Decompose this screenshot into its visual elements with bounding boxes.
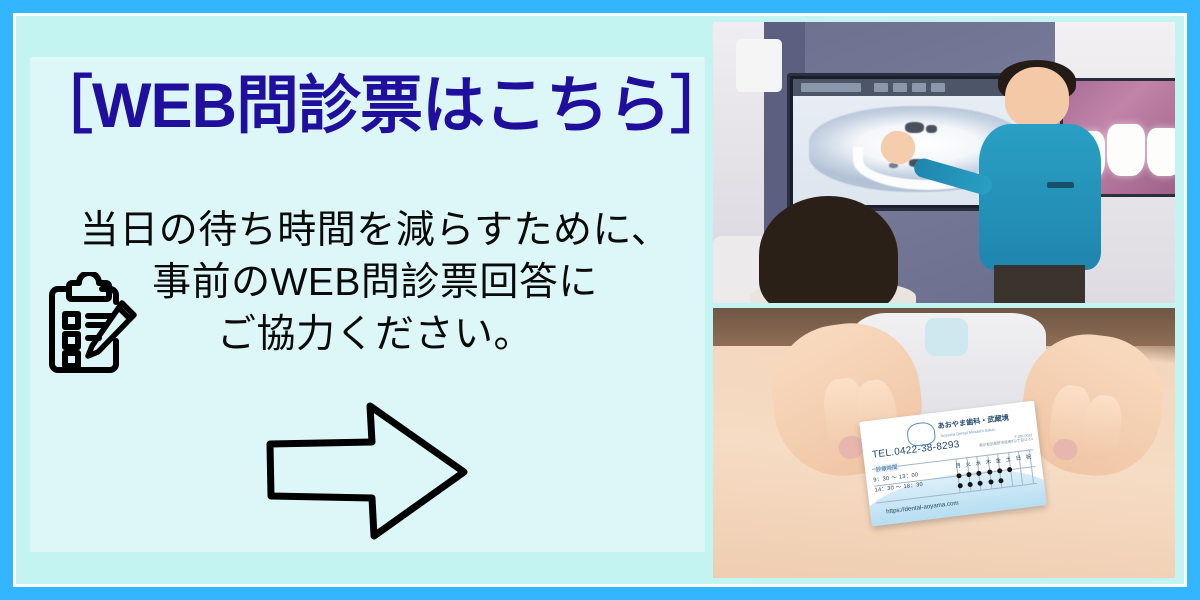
dental-staff-figure bbox=[976, 67, 1105, 303]
day-label: 水 bbox=[975, 458, 981, 467]
day-label: 月 bbox=[955, 460, 961, 469]
web-questionnaire-banner[interactable]: ［WEB問診票はこちら］ 当日の待ち時間を減らすために、 事前のWEB問診票 bbox=[0, 0, 1200, 600]
clinic-explanation-photo bbox=[713, 22, 1175, 303]
day-label: 火 bbox=[965, 459, 971, 468]
body-line-3: ご協力ください。 bbox=[60, 309, 690, 361]
photo-column: あおやま歯科・武蔵境 Aoyama Dental Musashi Sakai T… bbox=[713, 22, 1175, 578]
appointment-card-photo: あおやま歯科・武蔵境 Aoyama Dental Musashi Sakai T… bbox=[713, 308, 1175, 578]
day-label: 祝 bbox=[1026, 452, 1032, 461]
address-line-2: 東京都武蔵野市境南町2丁目11-14 bbox=[979, 437, 1033, 448]
day-label: 金 bbox=[996, 455, 1002, 464]
day-label: 木 bbox=[986, 456, 992, 465]
body-copy: 当日の待ち時間を減らすために、 事前のWEB問診票回答に ご協力ください。 bbox=[60, 205, 690, 361]
patient-figure bbox=[759, 196, 898, 303]
appointment-card: あおやま歯科・武蔵境 Aoyama Dental Musashi Sakai T… bbox=[860, 400, 1047, 526]
right-arrow-icon[interactable] bbox=[262, 398, 472, 543]
day-label: 土 bbox=[1006, 454, 1012, 463]
day-label: 日 bbox=[1016, 453, 1022, 462]
page-title: ［WEB問診票はこちら］ bbox=[30, 75, 720, 138]
body-line-2: 事前のWEB問診票回答に bbox=[60, 257, 690, 309]
body-line-1: 当日の待ち時間を減らすために、 bbox=[60, 205, 690, 257]
clinic-address: 〒180-0022 東京都武蔵野市境南町2丁目11-14 bbox=[979, 432, 1034, 448]
